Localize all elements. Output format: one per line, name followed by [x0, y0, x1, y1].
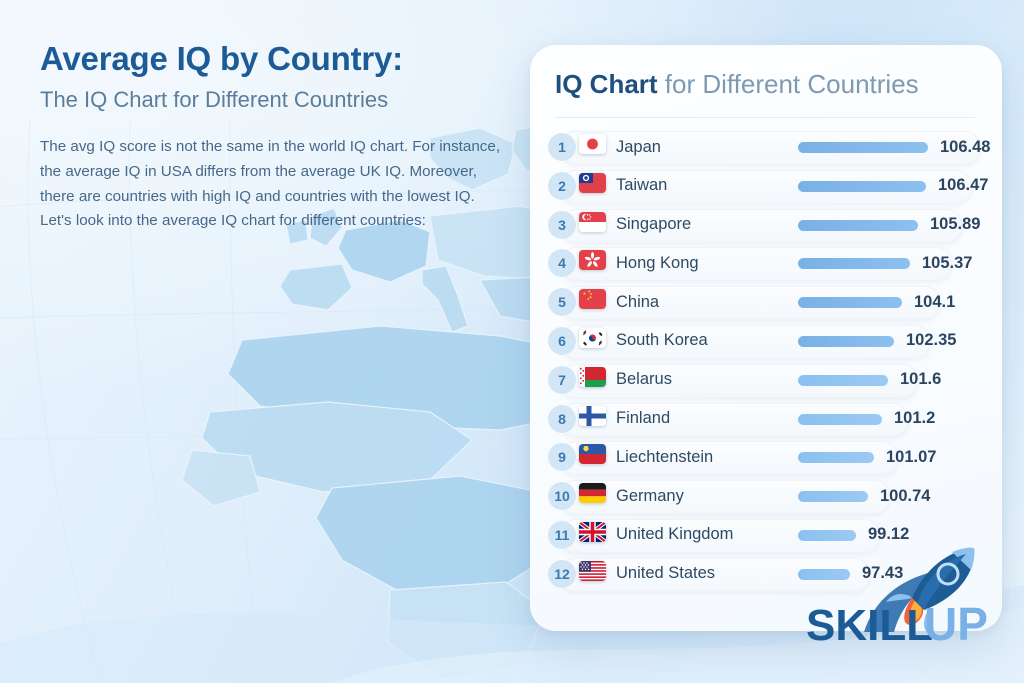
intro-text-block: Average IQ by Country: The IQ Chart for … — [40, 40, 510, 234]
rank-badge: 6 — [548, 327, 576, 355]
rank-badge: 2 — [548, 172, 576, 200]
country-row[interactable]: 5China104.1 — [548, 286, 1002, 318]
flag-finland-icon — [579, 406, 606, 426]
country-name: Singapore — [616, 209, 691, 241]
flag-germany-icon — [579, 483, 606, 503]
country-row[interactable]: 3Singapore105.89 — [548, 209, 1002, 241]
iq-bar — [798, 530, 856, 541]
country-row[interactable]: 7Belarus101.6 — [548, 364, 1002, 396]
iq-bar — [798, 491, 868, 502]
country-name: Taiwan — [616, 170, 667, 202]
country-row[interactable]: 9Liechtenstein101.07 — [548, 441, 1002, 473]
country-name: United States — [616, 558, 715, 590]
iq-value: 105.37 — [922, 247, 972, 279]
iq-value: 101.2 — [894, 403, 935, 435]
iq-bar — [798, 414, 882, 425]
country-row[interactable]: 6South Korea102.35 — [548, 325, 1002, 357]
country-name: United Kingdom — [616, 519, 733, 551]
skillup-logo[interactable]: SKILL UP — [806, 528, 1020, 648]
iq-value: 104.1 — [914, 286, 955, 318]
logo-word-dark: SKILL — [806, 601, 933, 648]
country-name: Belarus — [616, 364, 672, 396]
iq-value: 100.74 — [880, 480, 930, 512]
country-name: Finland — [616, 403, 670, 435]
logo-word-light: UP — [924, 598, 988, 648]
iq-value: 106.47 — [938, 170, 988, 202]
flag-belarus-icon — [579, 367, 606, 387]
flag-singapore-icon — [579, 212, 606, 232]
country-name: China — [616, 286, 659, 318]
card-title: IQ Chart for Different Countries — [555, 69, 919, 100]
page-title: Average IQ by Country: — [40, 40, 510, 79]
iq-value: 97.43 — [862, 558, 903, 590]
rank-badge: 1 — [548, 133, 576, 161]
intro-paragraph: The avg IQ score is not the same in the … — [40, 135, 502, 234]
iq-bar — [798, 297, 902, 308]
iq-value: 99.12 — [868, 519, 909, 551]
iq-value: 101.07 — [886, 441, 936, 473]
iq-bar — [798, 569, 850, 580]
iq-bar — [798, 336, 894, 347]
flag-south-korea-icon — [579, 328, 606, 348]
rank-badge: 8 — [548, 405, 576, 433]
country-name: Germany — [616, 480, 684, 512]
flag-hong-kong-icon — [579, 250, 606, 270]
flag-china-icon — [579, 289, 606, 309]
page-subtitle: The IQ Chart for Different Countries — [40, 86, 510, 114]
country-row[interactable]: 8Finland101.2 — [548, 403, 1002, 435]
rank-badge: 7 — [548, 366, 576, 394]
card-divider — [555, 117, 975, 118]
country-row[interactable]: 4Hong Kong105.37 — [548, 247, 1002, 279]
flag-united-states-icon — [579, 561, 606, 581]
rank-badge: 5 — [548, 288, 576, 316]
flag-united-kingdom-icon — [579, 522, 606, 542]
country-name: Japan — [616, 131, 661, 163]
rank-badge: 3 — [548, 211, 576, 239]
rank-badge: 11 — [548, 521, 576, 549]
country-ranking-list: 1Japan106.482Taiwan106.473Singapore105.8… — [548, 131, 1002, 597]
infographic-canvas: Average IQ by Country: The IQ Chart for … — [0, 0, 1024, 683]
country-row[interactable]: 2Taiwan106.47 — [548, 170, 1002, 202]
iq-bar — [798, 452, 874, 463]
country-name: Liechtenstein — [616, 441, 713, 473]
card-title-bold: IQ Chart — [555, 69, 658, 99]
country-name: Hong Kong — [616, 247, 699, 279]
flag-liechtenstein-icon — [579, 444, 606, 464]
iq-value: 102.35 — [906, 325, 956, 357]
country-row[interactable]: 1Japan106.48 — [548, 131, 1002, 163]
iq-value: 101.6 — [900, 364, 941, 396]
rank-badge: 12 — [548, 560, 576, 588]
flag-taiwan-icon — [579, 173, 606, 193]
country-name: South Korea — [616, 325, 708, 357]
card-title-light: for Different Countries — [658, 69, 919, 99]
iq-bar — [798, 220, 918, 231]
flag-japan-icon — [579, 134, 606, 154]
iq-bar — [798, 258, 910, 269]
rank-badge: 10 — [548, 482, 576, 510]
iq-value: 106.48 — [940, 131, 990, 163]
iq-bar — [798, 375, 888, 386]
country-row[interactable]: 10Germany100.74 — [548, 480, 1002, 512]
iq-bar — [798, 181, 926, 192]
iq-value: 105.89 — [930, 209, 980, 241]
iq-bar — [798, 142, 928, 153]
